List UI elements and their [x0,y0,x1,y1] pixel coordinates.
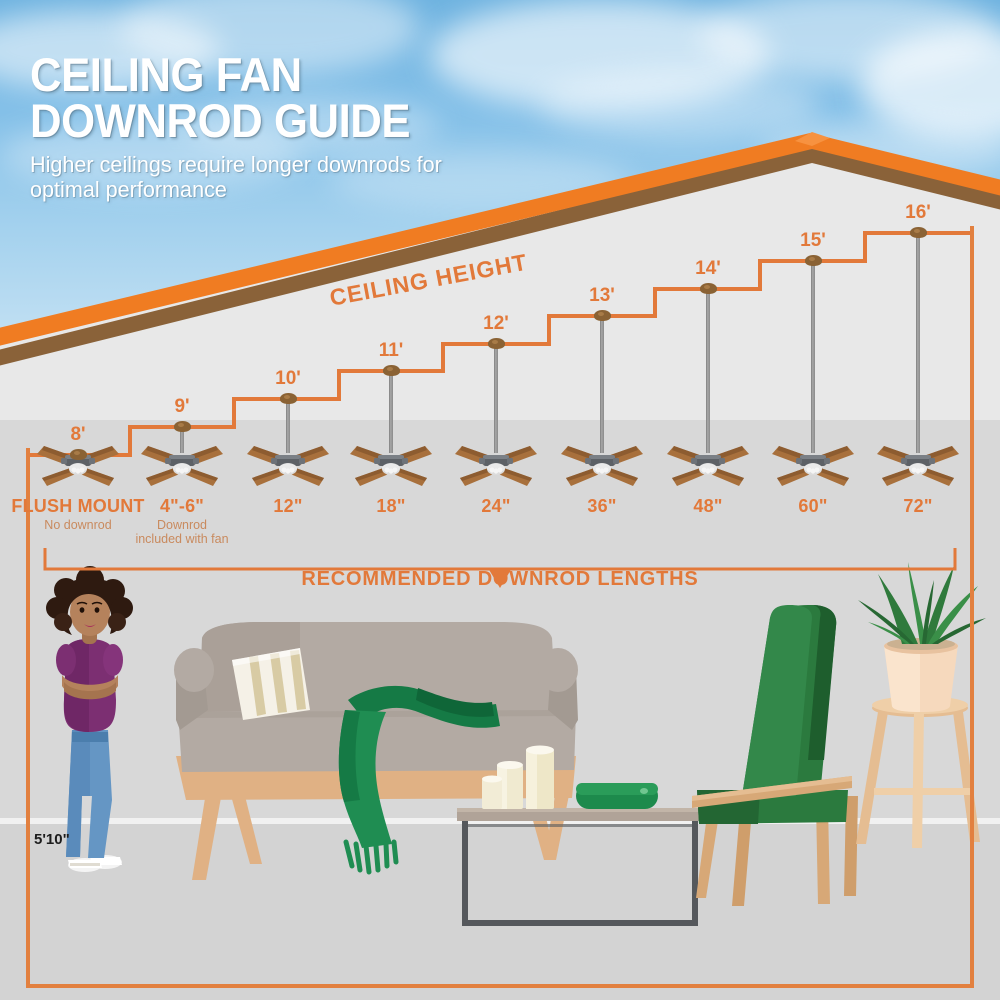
frame-border-right [970,226,974,988]
downrod-length-7: 60" [798,496,827,517]
page-title-line-1: CEILING FAN [30,52,430,98]
downrod-length-1: 4"-6" [127,496,237,517]
downrod-label-36: 36" [587,496,616,517]
downrod-length-4: 24" [481,496,510,517]
ceiling-fan-12 [446,440,546,488]
ceiling-height-14: 14' [695,258,721,280]
ceiling-mount-11 [383,365,400,376]
ceiling-mount-14 [700,283,717,294]
ceiling-height-12: 12' [483,313,509,335]
person-height-label: 5'10" [34,831,70,848]
ceiling-mount-15 [805,255,822,266]
ceiling-height-15: 15' [800,230,826,252]
infographic-canvas: CEILING FAN DOWNROD GUIDE Higher ceiling… [0,0,1000,1000]
green-bowl [576,783,658,809]
ceiling-fan-13 [552,440,652,488]
downrod-length-0: FLUSH MOUNT [11,496,144,517]
downrod-label-48: 48" [693,496,722,517]
ceiling-fan-15 [763,440,863,488]
ceiling-mount-12 [488,338,505,349]
ceiling-mount-9 [174,421,191,432]
ceiling-height-11: 11' [379,340,404,362]
downrod-14 [706,289,710,453]
downrod-label-60: 60" [798,496,827,517]
woman-standing [46,566,133,872]
ceiling-height-16: 16' [905,202,931,224]
downrod-length-3: 18" [376,496,405,517]
ceiling-fan-10 [238,440,338,488]
ceiling-mount-16 [910,227,927,238]
downrod-12 [494,344,498,453]
downrod-label-24: 24" [481,496,510,517]
page-subtitle: Higher ceilings require longer downrods … [30,152,443,202]
green-lounge-chair [692,605,858,906]
header-block: CEILING FAN DOWNROD GUIDE Higher ceiling… [30,52,460,202]
page-title-line-2: DOWNROD GUIDE [30,98,430,144]
downrod-length-2: 12" [273,496,302,517]
ceiling-mount-8 [70,449,87,460]
downrod-label-4-6: 4"-6" Downrod included with fan [127,496,237,547]
room-scene [0,560,1000,1000]
plant-pot [884,638,958,712]
downrod-length-5: 36" [587,496,616,517]
downrod-label-18: 18" [376,496,405,517]
ceiling-height-10: 10' [275,368,301,390]
ceiling-mount-13 [594,310,611,321]
ceiling-height-8: 8' [70,424,85,446]
downrod-label-12: 12" [273,496,302,517]
downrod-13 [600,316,604,453]
ceiling-fan-14 [658,440,758,488]
ceiling-fan-8 [28,440,128,488]
plant-stand [856,696,980,848]
recommended-downrod-lengths-label: RECOMMENDED DOWNROD LENGTHS [301,568,698,591]
ceiling-height-13: 13' [589,285,615,307]
coffee-table [457,808,704,926]
frame-border-bottom [26,984,974,988]
downrod-label-flush-mount: FLUSH MOUNT No downrod [11,496,144,532]
downrod-16 [916,233,920,453]
downrod-length-8: 72" [903,496,932,517]
ceiling-fan-9 [132,440,232,488]
ceiling-height-9: 9' [174,396,189,418]
downrod-label-72: 72" [903,496,932,517]
ceiling-mount-10 [280,393,297,404]
downrod-15 [811,261,815,453]
downrod-note-1: Downrod included with fan [127,518,237,547]
ceiling-fan-16 [868,440,968,488]
downrod-length-6: 48" [693,496,722,517]
ceiling-fan-11 [341,440,441,488]
downrod-note-0: No downrod [11,518,144,532]
striped-pillow [232,648,310,720]
